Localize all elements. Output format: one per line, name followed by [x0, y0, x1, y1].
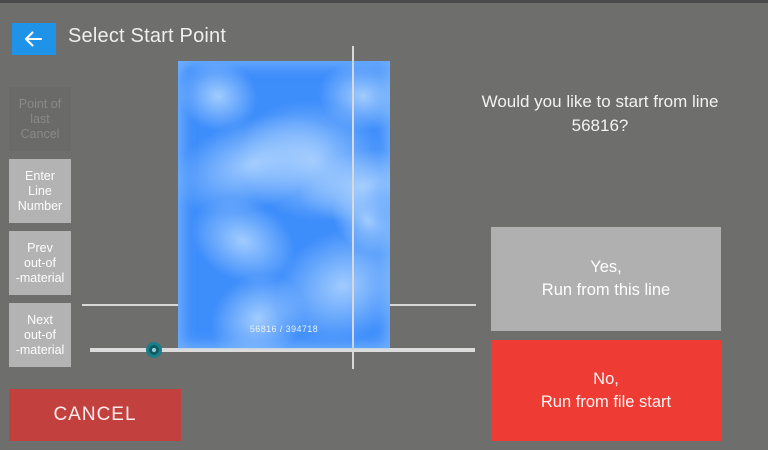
- arrow-left-icon: [23, 30, 45, 48]
- sidebar-button-label-line-1: Point of: [19, 97, 61, 112]
- yes-run-from-this-line-button[interactable]: Yes, Run from this line: [491, 227, 721, 331]
- sidebar-button-label-line-1: Next: [27, 313, 53, 328]
- sidebar-button-label-line-2: out-of: [24, 328, 56, 343]
- sidebar-button-label-line-3: Number: [18, 199, 62, 214]
- cancel-button[interactable]: CANCEL: [9, 389, 181, 441]
- no-button-label-line-1: No,: [497, 368, 715, 391]
- no-button-label-line-2: Run from file start: [497, 391, 715, 414]
- sidebar-button-label-line-1: Prev: [27, 241, 53, 256]
- select-start-point-screen: Select Start Point Point of last Cancel …: [0, 0, 768, 450]
- no-run-from-file-start-button[interactable]: No, Run from file start: [491, 340, 721, 441]
- sidebar-button-label-line-3: -material: [16, 271, 65, 286]
- sidebar-button-label-line-2: out-of: [24, 256, 56, 271]
- sidebar-button-enter-line-number[interactable]: Enter Line Number: [9, 159, 71, 223]
- yes-button-label-line-1: Yes,: [497, 256, 715, 279]
- line-counter-label: 56816 / 394718: [178, 324, 390, 334]
- sidebar-button-label-line-3: Cancel: [21, 127, 60, 142]
- prompt-question-line-1: Would you like to start from line: [482, 92, 719, 111]
- crosshair-vertical-line: [352, 46, 354, 369]
- sidebar-button-label-line-1: Enter: [25, 169, 55, 184]
- back-button[interactable]: [12, 23, 56, 55]
- page-title: Select Start Point: [68, 25, 226, 48]
- line-position-slider-thumb[interactable]: [146, 342, 162, 358]
- sidebar-button-prev-out-of-material[interactable]: Prev out-of -material: [9, 231, 71, 295]
- sidebar-button-label-line-2: last: [30, 112, 49, 127]
- prompt-question-line-2: 56816?: [572, 116, 629, 135]
- sidebar-button-point-of-last-cancel[interactable]: Point of last Cancel: [9, 87, 71, 151]
- sidebar-button-label-line-3: -material: [16, 343, 65, 358]
- prompt-question: Would you like to start from line 56816?: [452, 90, 748, 138]
- toolpath-preview[interactable]: 56816 / 394718: [178, 61, 390, 349]
- sidebar-button-label-line-2: Line: [28, 184, 52, 199]
- yes-button-label-line-2: Run from this line: [497, 279, 715, 302]
- sidebar-button-next-out-of-material[interactable]: Next out-of -material: [9, 303, 71, 367]
